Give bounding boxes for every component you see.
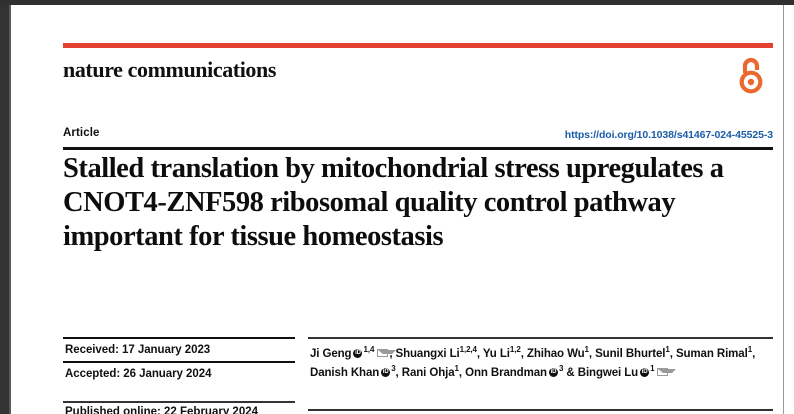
author-name[interactable]: Shuangxi Li	[396, 348, 460, 360]
dates-rule-bottom	[63, 401, 295, 403]
orcid-icon[interactable]	[353, 349, 362, 358]
page-title: Stalled translation by mitochondrial str…	[63, 152, 763, 254]
affiliation-marker: 1	[748, 345, 752, 354]
corresponding-author-envelope-icon[interactable]	[377, 349, 388, 357]
author-name[interactable]: Zhihao Wu	[527, 348, 585, 360]
accepted-date: Accepted: 26 January 2024	[63, 363, 295, 385]
affiliation-marker: 1	[585, 345, 589, 354]
window-border-top	[0, 0, 794, 5]
orcid-icon[interactable]	[640, 368, 649, 377]
author-list: Ji Geng1,4, Shuangxi Li1,2,4, Yu Li1,2, …	[308, 339, 773, 383]
publication-dates-block: Received: 17 January 2023 Accepted: 26 J…	[63, 337, 295, 385]
orcid-icon[interactable]	[381, 368, 390, 377]
author-name[interactable]: Danish Khan	[310, 367, 379, 379]
brand-rule	[63, 43, 773, 48]
affiliation-marker: 1,2,4	[460, 345, 477, 354]
affiliation-marker: 3	[391, 364, 395, 373]
window-border-right	[783, 5, 784, 414]
author-name[interactable]: Ji Geng	[310, 348, 351, 360]
author-line-1: Ji Geng1,4, Shuangxi Li1,2,4, Yu Li1,2, …	[310, 348, 755, 360]
window-border-left-highlight	[9, 5, 11, 414]
affiliation-marker: 1	[455, 364, 459, 373]
journal-masthead[interactable]: nature communications	[63, 57, 276, 83]
published-online-date: Published online: 22 February 2024	[65, 406, 258, 414]
affiliation-marker: 3	[559, 364, 563, 373]
author-name[interactable]: Onn Brandman	[465, 367, 547, 379]
author-block: Ji Geng1,4, Shuangxi Li1,2,4, Yu Li1,2, …	[308, 337, 773, 383]
author-name[interactable]: Yu Li	[483, 348, 510, 360]
corresponding-author-envelope-icon[interactable]	[657, 368, 668, 376]
orcid-icon[interactable]	[549, 368, 558, 377]
affiliation-marker: 1	[650, 364, 654, 373]
author-name[interactable]: Sunil Bhurtel	[595, 348, 665, 360]
open-access-padlock-icon[interactable]	[735, 56, 767, 94]
affiliation-marker: 1,4	[363, 345, 374, 354]
header-divider-rule	[63, 147, 773, 150]
author-name[interactable]: Suman Rimal	[676, 348, 748, 360]
article-header-region: nature communications Article https://do…	[63, 5, 773, 414]
screenshot-root: nature communications Article https://do…	[0, 0, 794, 414]
author-line-2: Danish Khan3, Rani Ohja1, Onn Brandman3 …	[310, 367, 669, 379]
affiliation-marker: 1	[665, 345, 669, 354]
author-name[interactable]: Rani Ohja	[402, 367, 455, 379]
authors-rule-bottom	[308, 409, 773, 411]
doi-link[interactable]: https://doi.org/10.1038/s41467-024-45525…	[565, 129, 773, 141]
affiliation-marker: 1,2	[510, 345, 521, 354]
author-name[interactable]: Bingwei Lu	[578, 367, 638, 379]
received-date: Received: 17 January 2023	[63, 339, 295, 361]
article-type-label: Article	[63, 127, 100, 139]
